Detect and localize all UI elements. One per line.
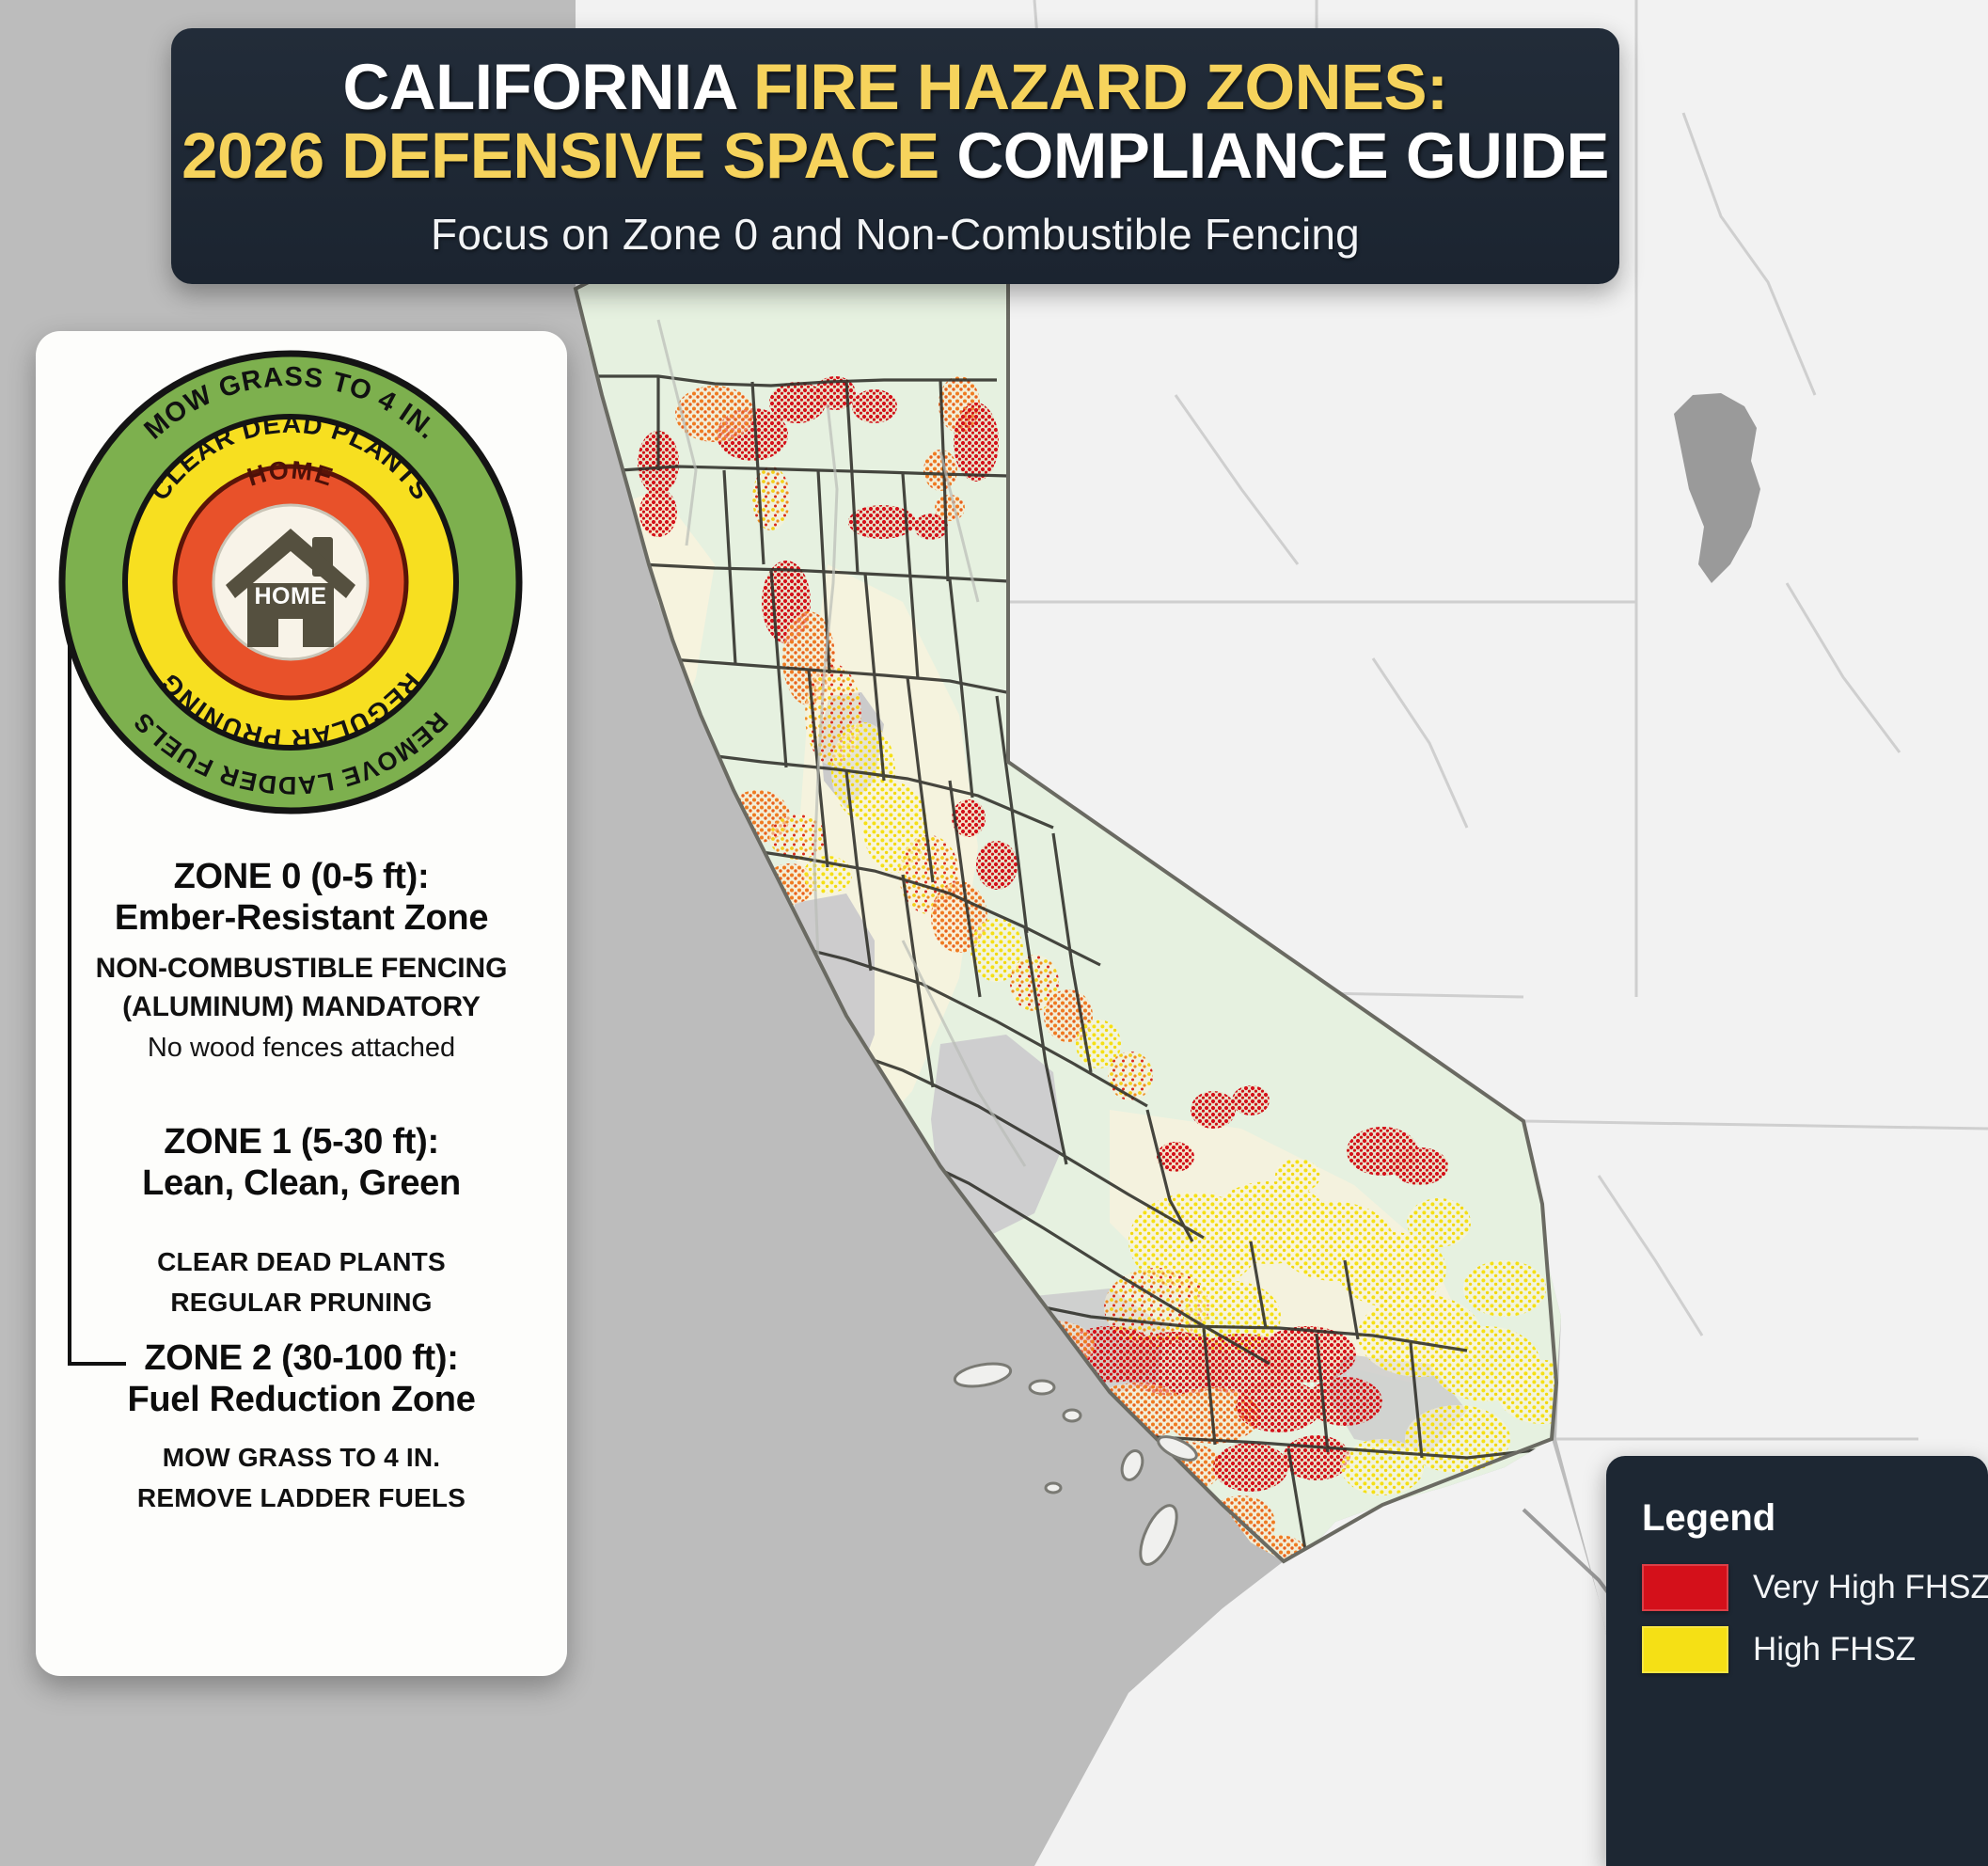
title-line-2: 2026 DEFENSIVE SPACE COMPLIANCE GUIDE <box>181 121 1609 190</box>
infographic-root: CALIFORNIA FIRE HAZARD ZONES: 2026 DEFEN… <box>0 0 1988 1866</box>
house-icon-label: HOME <box>255 583 327 609</box>
legend-item-high[interactable]: High FHSZ <box>1642 1626 1988 1673</box>
zone-0-heading-line2: Ember-Resistant Zone <box>36 897 567 939</box>
header-subtitle: Focus on Zone 0 and Non-Combustible Fenc… <box>431 209 1360 260</box>
defensible-space-panel: MOW GRASS TO 4 IN. REMOVE LADDER FUELS C… <box>36 331 567 1676</box>
zone-2-heading-line2: Fuel Reduction Zone <box>36 1379 567 1420</box>
legend-title: Legend <box>1642 1497 1988 1540</box>
zone-1-heading-line1: ZONE 1 (5-30 ft): <box>36 1121 567 1162</box>
header-banner: CALIFORNIA FIRE HAZARD ZONES: 2026 DEFEN… <box>171 28 1619 284</box>
title-part-compliance-guide: COMPLIANCE GUIDE <box>956 119 1609 192</box>
zone-1-block: ZONE 1 (5-30 ft): Lean, Clean, Green CLE… <box>36 1121 567 1322</box>
title-part-california: CALIFORNIA <box>342 51 753 123</box>
title-part-2026-defensive-space: 2026 DEFENSIVE SPACE <box>181 119 956 192</box>
zone-0-heading-line1: ZONE 0 (0-5 ft): <box>36 856 567 897</box>
legend-swatch-high <box>1642 1626 1728 1673</box>
defensible-space-diagram: MOW GRASS TO 4 IN. REMOVE LADDER FUELS C… <box>56 348 525 816</box>
zone-1-bullet-1: CLEAR DEAD PLANTS <box>36 1241 567 1282</box>
zone-0-requirement-line2: (ALUMINUM) MANDATORY <box>36 988 567 1025</box>
zone-2-heading-line1: ZONE 2 (30-100 ft): <box>36 1337 567 1379</box>
zone-0-requirement-line1: NON-COMBUSTIBLE FENCING <box>36 950 567 987</box>
zone-2-block: ZONE 2 (30-100 ft): Fuel Reduction Zone … <box>36 1337 567 1518</box>
legend-item-very-high[interactable]: Very High FHSZ <box>1642 1564 1988 1611</box>
map-legend: Legend Very High FHSZ High FHSZ <box>1606 1456 1988 1866</box>
zone-2-bullet-2: REMOVE LADDER FUELS <box>36 1478 567 1518</box>
zone-0-note: No wood fences attached <box>36 1031 567 1065</box>
title-part-fire-hazard-zones: FIRE HAZARD ZONES: <box>753 51 1447 123</box>
zone-0-block: ZONE 0 (0-5 ft): Ember-Resistant Zone NO… <box>36 856 567 1065</box>
legend-swatch-very-high <box>1642 1564 1728 1611</box>
zone-2-bullet-1: MOW GRASS TO 4 IN. <box>36 1437 567 1478</box>
legend-label-very-high: Very High FHSZ <box>1753 1569 1988 1606</box>
legend-label-high: High FHSZ <box>1753 1631 1916 1668</box>
zone-1-heading-line2: Lean, Clean, Green <box>36 1162 567 1204</box>
zone-1-bullet-2: REGULAR PRUNING <box>36 1282 567 1322</box>
title-line-1: CALIFORNIA FIRE HAZARD ZONES: <box>342 53 1447 121</box>
